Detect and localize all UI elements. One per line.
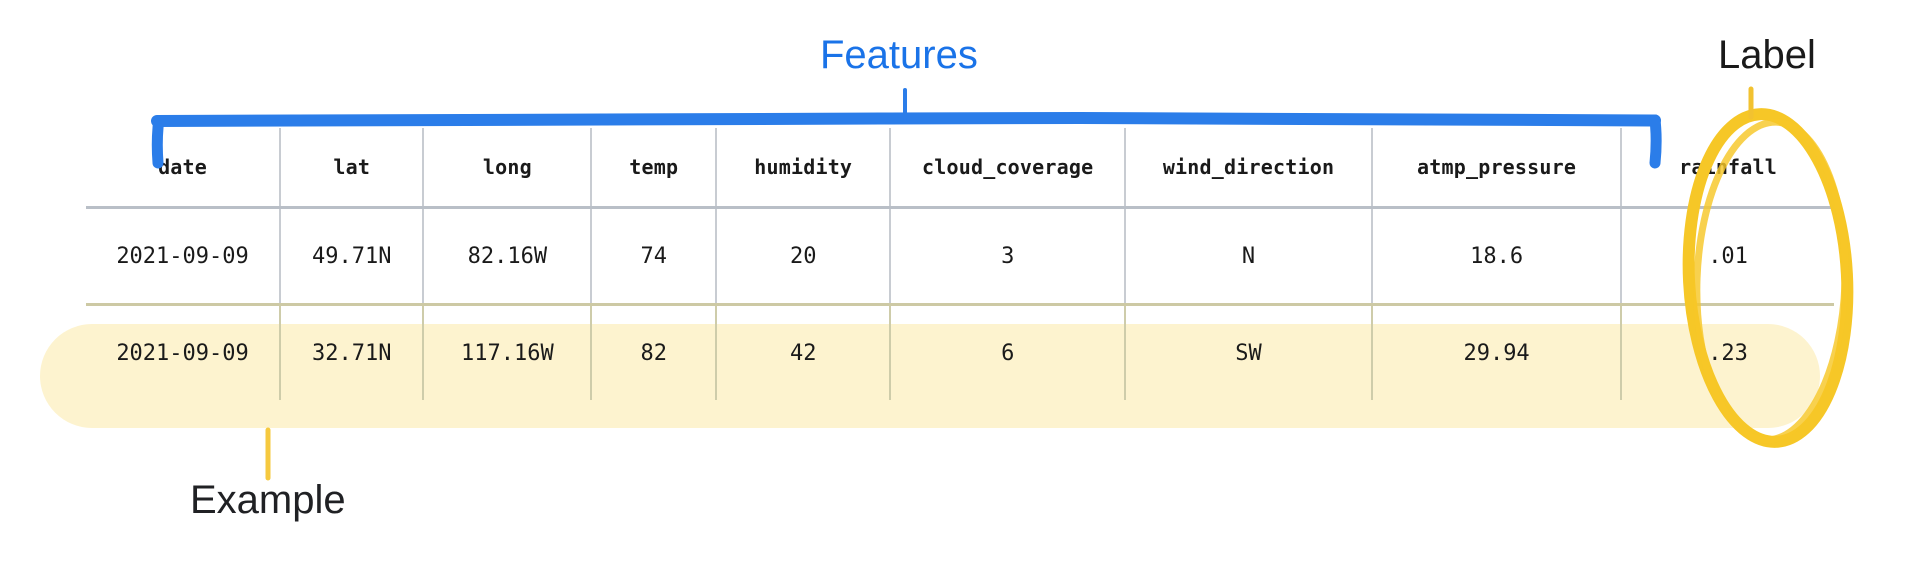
table-row: 2021-09-09 49.71N 82.16W 74 20 3 N 18.6 … (86, 208, 1834, 305)
cell-long: 117.16W (423, 305, 591, 401)
diagram-canvas: date lat long temp humidity cloud_covera… (0, 0, 1920, 576)
table-row: 2021-09-09 32.71N 117.16W 82 42 6 SW 29.… (86, 305, 1834, 401)
cell-atmp-pressure: 29.94 (1372, 305, 1621, 401)
column-header-long: long (423, 128, 591, 208)
column-header-cloud-coverage: cloud_coverage (890, 128, 1125, 208)
cell-date: 2021-09-09 (86, 208, 280, 305)
column-header-humidity: humidity (716, 128, 890, 208)
cell-humidity: 42 (716, 305, 890, 401)
cell-date: 2021-09-09 (86, 305, 280, 401)
cell-cloud-coverage: 6 (890, 305, 1125, 401)
dataset-table-container: date lat long temp humidity cloud_covera… (0, 0, 1920, 576)
cell-long: 82.16W (423, 208, 591, 305)
cell-wind-direction: N (1125, 208, 1372, 305)
cell-rainfall: .23 (1621, 305, 1834, 401)
column-header-rainfall: rainfall (1621, 128, 1834, 208)
column-header-date: date (86, 128, 280, 208)
cell-rainfall: .01 (1621, 208, 1834, 305)
cell-atmp-pressure: 18.6 (1372, 208, 1621, 305)
cell-lat: 32.71N (280, 305, 423, 401)
column-header-atmp-pressure: atmp_pressure (1372, 128, 1621, 208)
dataset-table: date lat long temp humidity cloud_covera… (86, 128, 1834, 400)
cell-temp: 74 (591, 208, 716, 305)
cell-lat: 49.71N (280, 208, 423, 305)
cell-temp: 82 (591, 305, 716, 401)
column-header-temp: temp (591, 128, 716, 208)
column-header-lat: lat (280, 128, 423, 208)
cell-humidity: 20 (716, 208, 890, 305)
column-header-wind-direction: wind_direction (1125, 128, 1372, 208)
cell-wind-direction: SW (1125, 305, 1372, 401)
cell-cloud-coverage: 3 (890, 208, 1125, 305)
table-header-row: date lat long temp humidity cloud_covera… (86, 128, 1834, 208)
